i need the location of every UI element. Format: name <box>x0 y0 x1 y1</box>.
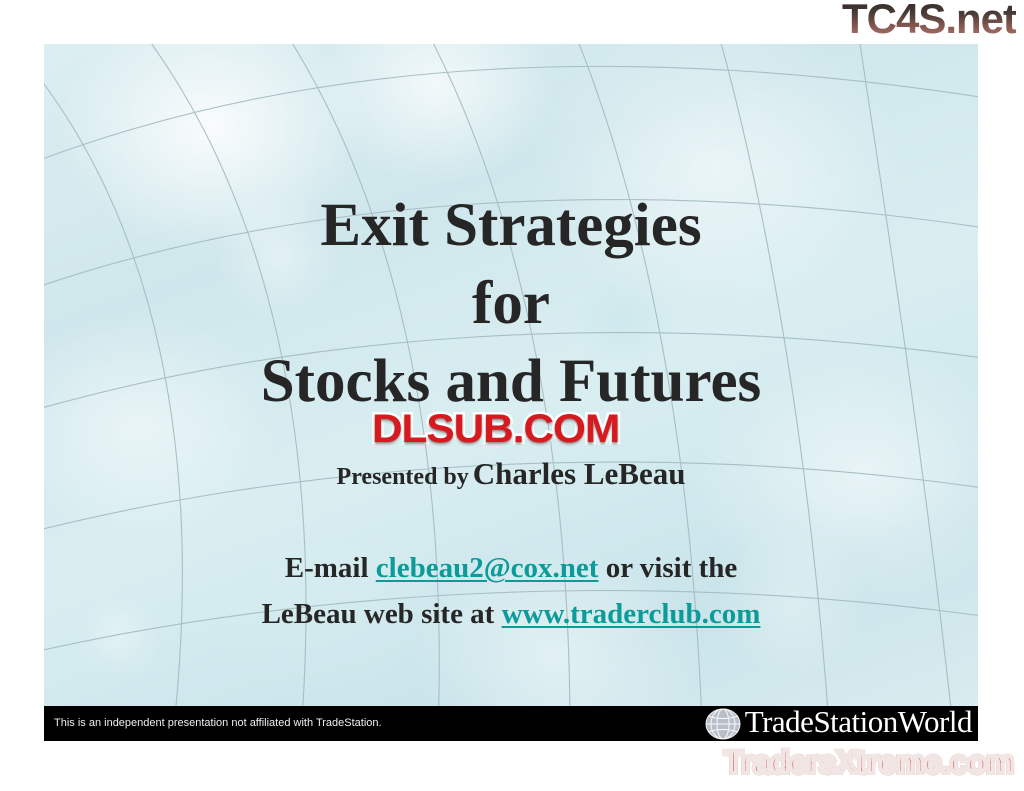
disclaimer-text: This is an independent presentation not … <box>54 717 382 730</box>
watermark-tradersxtreme: TradersXtreme.com <box>724 745 1014 780</box>
contact-info: E-mail clebeau2@cox.net or visit the LeB… <box>44 545 978 637</box>
presented-by-label: Presented by <box>337 464 469 490</box>
contact-line-email: E-mail clebeau2@cox.net or visit the <box>44 545 978 591</box>
watermark-tradersxtreme-text: TradersXtreme.com <box>724 744 1014 780</box>
website-label: LeBeau web site at <box>262 598 495 630</box>
watermark-tc4s: TC4S.net <box>842 0 1016 40</box>
title-line-1: Exit Strategies <box>44 187 978 265</box>
watermark-dlsub: DLSUB.COM <box>372 407 619 451</box>
email-label: E-mail <box>285 552 369 584</box>
tradestationworld-label: TradeStationWorld <box>745 706 972 739</box>
presentation-slide: Exit Strategies for Stocks and Futures P… <box>44 44 978 741</box>
website-link[interactable]: www.traderclub.com <box>502 598 761 630</box>
email-link[interactable]: clebeau2@cox.net <box>376 552 599 584</box>
slide-footer-bar: This is an independent presentation not … <box>44 706 978 741</box>
globe-icon <box>703 707 743 741</box>
title-line-2: for <box>44 265 978 343</box>
presenter-name: Charles LeBeau <box>473 456 686 491</box>
watermark-dlsub-text: DLSUB.COM <box>372 407 619 451</box>
contact-line-website: LeBeau web site at www.traderclub.com <box>44 591 978 637</box>
email-trailing-text: or visit the <box>606 552 738 584</box>
presenter-credit: Presented by Charles LeBeau <box>44 456 978 492</box>
slide-title: Exit Strategies for Stocks and Futures <box>44 187 978 421</box>
tradestationworld-wordmark: TradeStationWorld <box>745 706 972 737</box>
tradestationworld-logo: TradeStationWorld <box>703 706 972 741</box>
